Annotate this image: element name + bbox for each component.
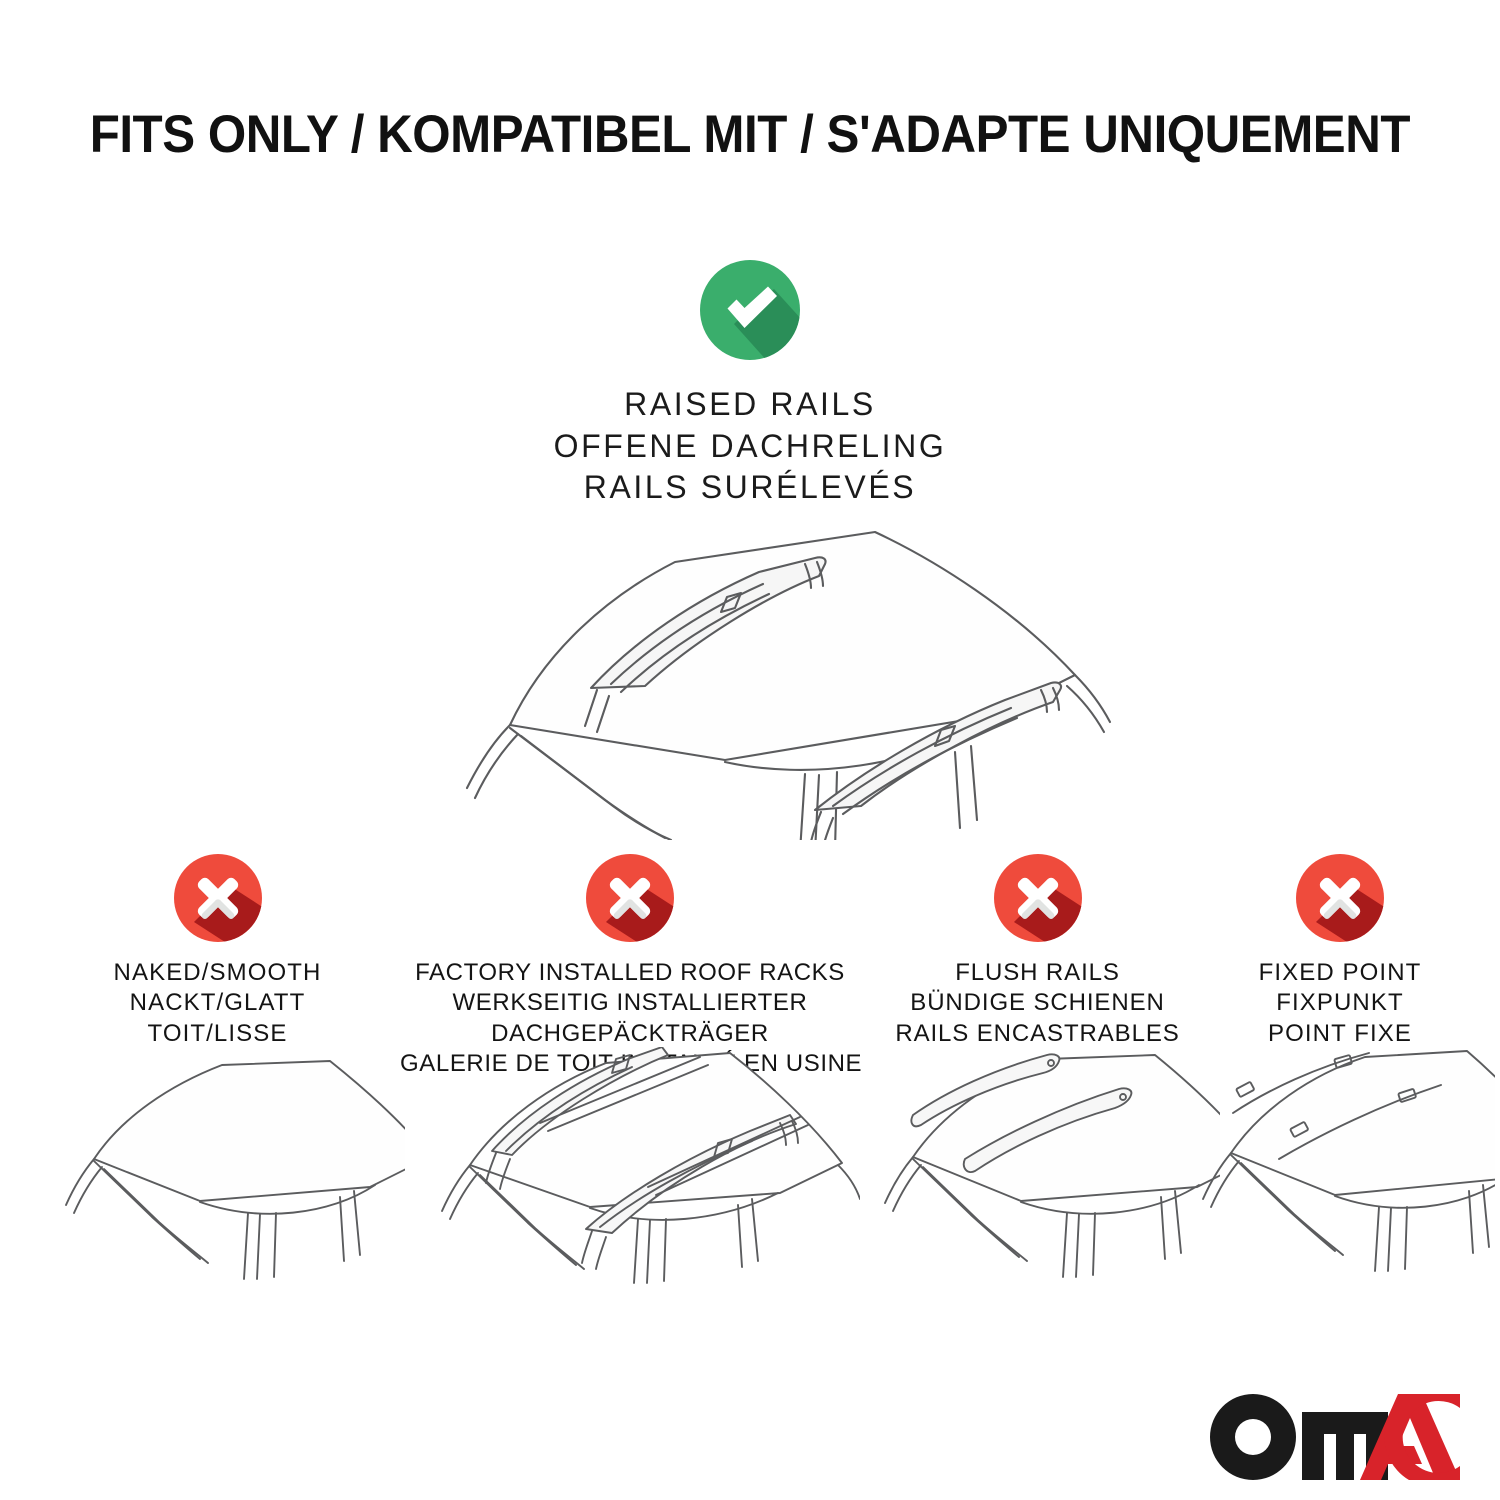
x-circle-icon (992, 852, 1084, 944)
label-line-en: FIXED POINT (1215, 958, 1465, 988)
page-title-bar: FITS ONLY / KOMPATIBEL MIT / S'ADAPTE UN… (0, 104, 1500, 165)
car-roof-fixed-point-illustration (1175, 1047, 1495, 1292)
incompatible-labels: NAKED/SMOOTH NACKT/GLATT TOIT/LISSE (30, 958, 405, 1049)
incompatible-item-fixed-point: FIXED POINT FIXPUNKT POINT FIXE (1215, 852, 1465, 1049)
x-circle-icon (172, 852, 264, 944)
incompatible-labels: FLUSH RAILS BÜNDIGE SCHIENEN RAILS ENCAS… (855, 958, 1220, 1049)
label-line-en: NAKED/SMOOTH (30, 958, 405, 988)
label-line-de: BÜNDIGE SCHIENEN (855, 988, 1220, 1018)
label-line-de: NACKT/GLATT (30, 988, 405, 1018)
compatible-label-de: OFFENE DACHRELING (0, 426, 1500, 468)
incompatible-labels: FIXED POINT FIXPUNKT POINT FIXE (1215, 958, 1465, 1049)
label-line-de-2: DACHGEPÄCKTRÄGER (400, 1019, 860, 1049)
car-roof-raised-rails-illustration (375, 500, 1125, 840)
compatible-label-en: RAISED RAILS (0, 384, 1500, 426)
label-line-de: FIXPUNKT (1215, 988, 1465, 1018)
label-line-fr: TOIT/LISSE (30, 1019, 405, 1049)
check-circle-icon (698, 258, 802, 362)
car-roof-naked-smooth-illustration (30, 1047, 405, 1292)
car-roof-flush-rails-illustration (855, 1047, 1220, 1292)
logo-letter-o (1210, 1394, 1296, 1480)
x-circle-icon (584, 852, 676, 944)
omac-logo (1210, 1394, 1460, 1480)
label-line-fr: RAILS ENCASTRABLES (855, 1019, 1220, 1049)
label-line-de-1: WERKSEITIG INSTALLIERTER (400, 988, 860, 1018)
label-line-fr: POINT FIXE (1215, 1019, 1465, 1049)
label-line-en: FACTORY INSTALLED ROOF RACKS (400, 958, 860, 988)
page-title: FITS ONLY / KOMPATIBEL MIT / S'ADAPTE UN… (90, 104, 1410, 165)
incompatible-item-factory-roof-racks: FACTORY INSTALLED ROOF RACKS WERKSEITIG … (400, 852, 860, 1080)
incompatible-item-flush-rails: FLUSH RAILS BÜNDIGE SCHIENEN RAILS ENCAS… (855, 852, 1220, 1049)
car-roof-factory-roof-racks-illustration (400, 1047, 860, 1292)
incompatible-item-naked-smooth: NAKED/SMOOTH NACKT/GLATT TOIT/LISSE (30, 852, 405, 1049)
label-line-en: FLUSH RAILS (855, 958, 1220, 988)
compatible-labels: RAISED RAILS OFFENE DACHRELING RAILS SUR… (0, 384, 1500, 509)
compatible-section: RAISED RAILS OFFENE DACHRELING RAILS SUR… (0, 258, 1500, 509)
x-circle-icon (1294, 852, 1386, 944)
